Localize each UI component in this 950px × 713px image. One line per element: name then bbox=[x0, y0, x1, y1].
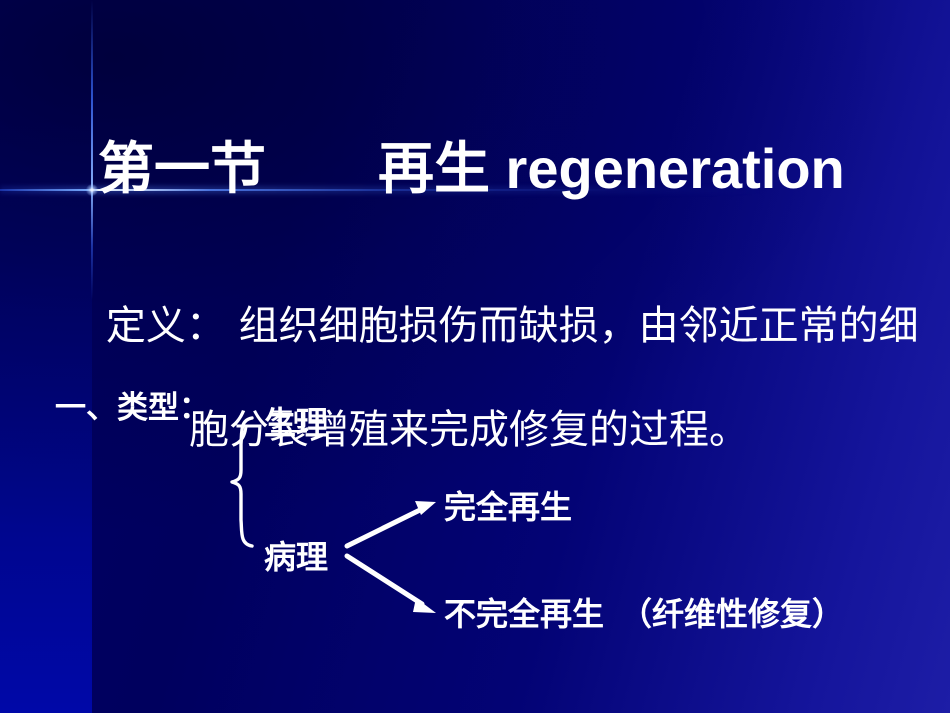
definition-line-1: 定义： 组织细胞损伤而缺损，由邻近正常的细 bbox=[106, 303, 919, 349]
node-physiological: 生理 bbox=[264, 398, 328, 444]
types-heading: 一、类型： bbox=[55, 382, 210, 427]
slide-canvas: 第一节 再生 regeneration 定义： 组织细胞损伤而缺损，由邻近正常的… bbox=[0, 0, 950, 713]
crosshair-center-dot bbox=[86, 184, 98, 196]
node-incomplete-regeneration: 不完全再生 （纤维性修复） bbox=[444, 589, 844, 635]
slide-title: 第一节 再生 regeneration bbox=[98, 141, 845, 197]
node-complete-regeneration: 完全再生 bbox=[444, 482, 572, 528]
node-pathological: 病理 bbox=[264, 532, 328, 578]
